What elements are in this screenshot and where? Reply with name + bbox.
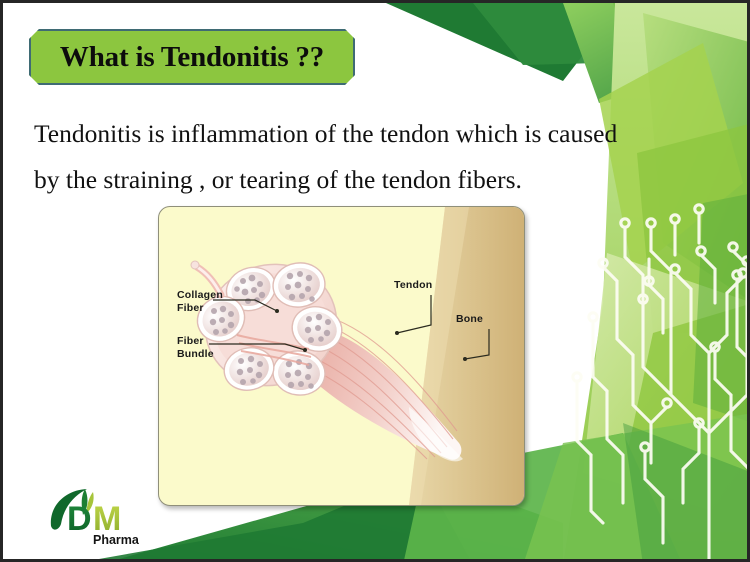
slide-title-box: What is Tendonitis ??	[29, 29, 355, 85]
figure-label-collagen-fiber: Collagen Fiber	[177, 289, 223, 315]
dm-pharma-logo: D M Pharma	[45, 486, 163, 548]
figure-label-bone: Bone	[456, 313, 483, 326]
logo-letter-d: D	[67, 500, 92, 538]
body-line-2: by the straining , or tearing of the ten…	[34, 157, 674, 203]
figure-label-tendon: Tendon	[394, 279, 432, 292]
logo-wordmark: Pharma	[93, 533, 140, 547]
presentation-slide: What is Tendonitis ?? Tendonitis is infl…	[0, 0, 750, 562]
page-title: What is Tendonitis ??	[60, 41, 324, 74]
body-paragraph: Tendonitis is inflammation of the tendon…	[34, 111, 674, 204]
tendon-anatomy-figure: Collagen Fiber Fiber Bundle Tendon Bone	[158, 206, 525, 506]
body-line-1: Tendonitis is inflammation of the tendon…	[34, 111, 674, 157]
figure-label-fiber-bundle: Fiber Bundle	[177, 335, 214, 361]
